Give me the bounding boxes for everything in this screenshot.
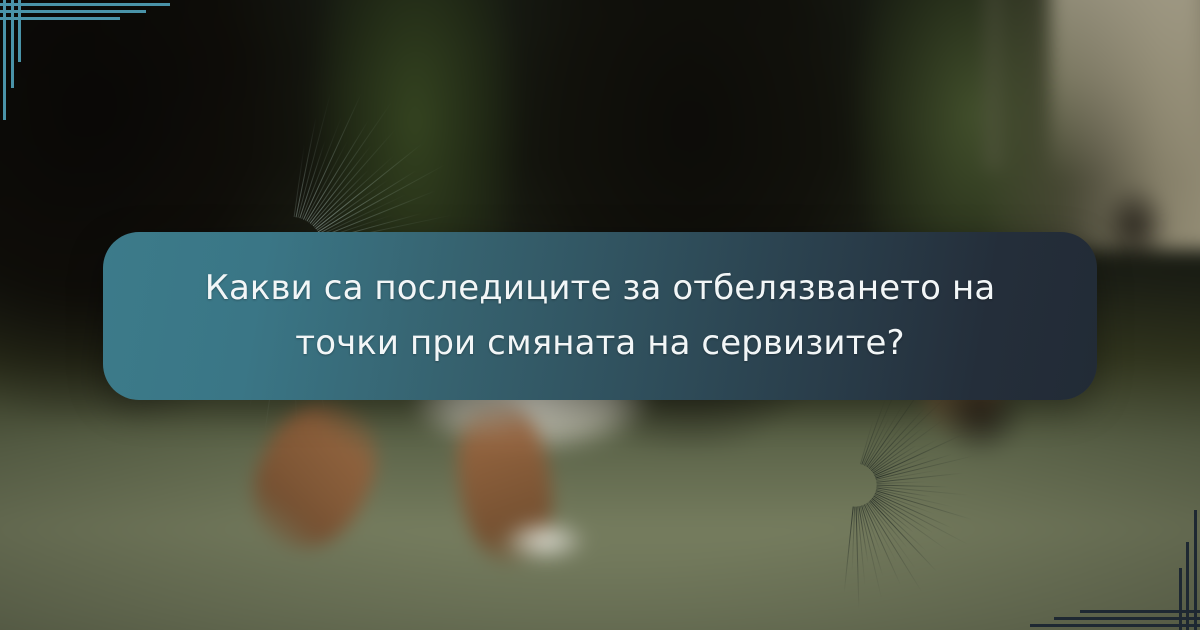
corner-line-horizontal xyxy=(0,10,146,13)
corner-line-horizontal xyxy=(0,17,120,20)
og-card-canvas: Какви са последиците за отбелязването на… xyxy=(0,0,1200,630)
corner-line-vertical xyxy=(1179,568,1182,630)
corner-lines-top-left xyxy=(0,0,230,150)
corner-line-horizontal xyxy=(1080,610,1200,613)
headline-card: Какви са последиците за отбелязването на… xyxy=(103,232,1097,400)
corner-line-horizontal xyxy=(1054,617,1200,620)
corner-lines-bottom-right xyxy=(970,480,1200,630)
page-title: Какви са последиците за отбелязването на… xyxy=(170,261,1030,371)
page-title-line-2: точки при смяната на сервизите? xyxy=(295,323,904,363)
corner-line-horizontal xyxy=(1030,624,1200,627)
corner-line-horizontal xyxy=(0,3,170,6)
page-title-line-1: Какви са последиците за отбелязването на xyxy=(205,268,996,308)
corner-line-vertical xyxy=(11,0,14,88)
